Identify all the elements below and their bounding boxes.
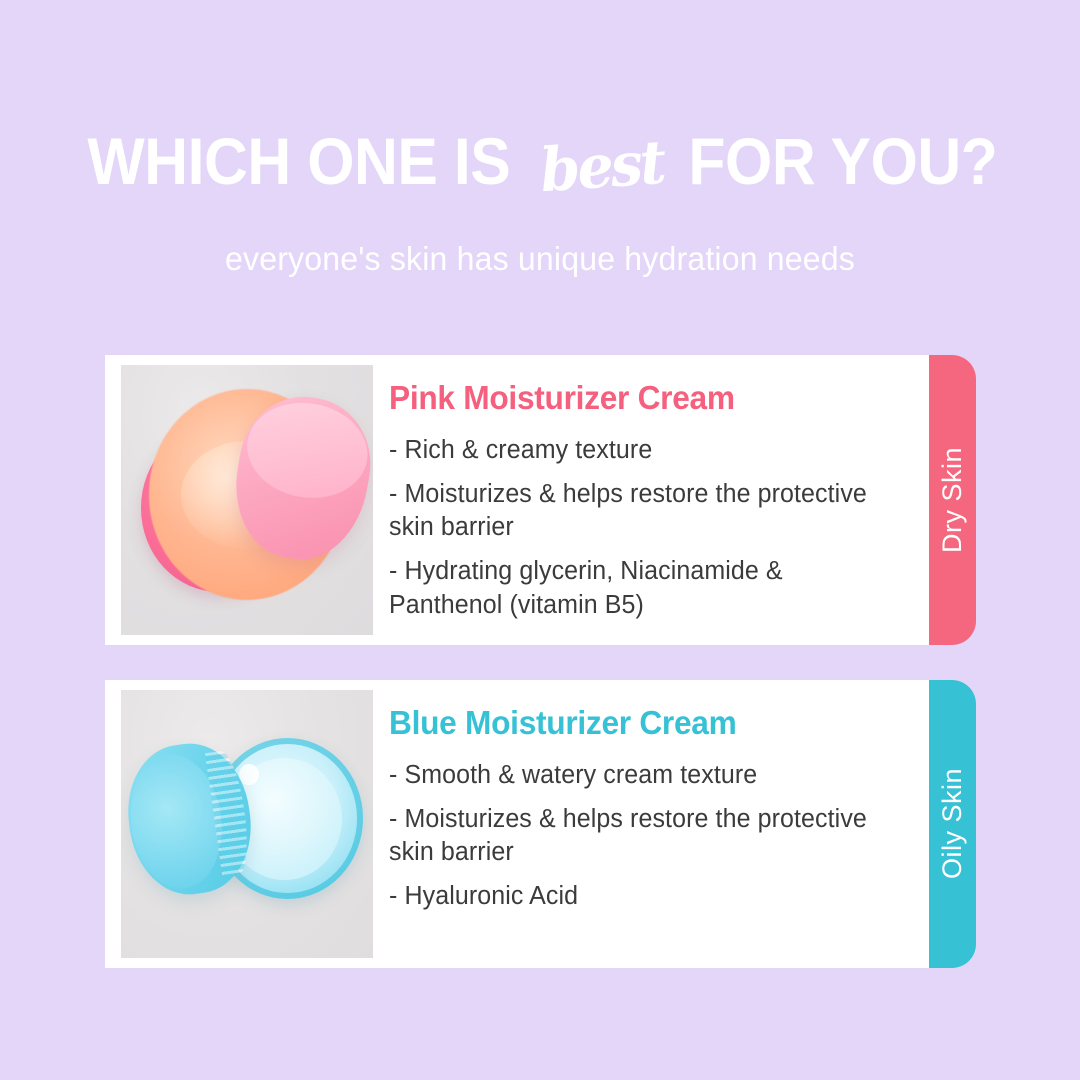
product-photo-blue (105, 680, 373, 968)
skin-type-tab-oily[interactable]: Oily Skin (929, 680, 976, 968)
page-title-part-before: WHICH ONE IS (88, 128, 511, 194)
page-title-script-word: best (538, 133, 665, 201)
blue-jar-image (121, 690, 373, 958)
page-title-part-after: FOR YOU? (688, 128, 997, 194)
product-photo-pink (105, 355, 373, 645)
product-info-blue: Blue Moisturizer Cream - Smooth & watery… (373, 680, 930, 925)
page-title: WHICH ONE ISbestFOR YOU? (0, 128, 1080, 214)
product-feature: - Hydrating glycerin, Niacinamide & Pant… (389, 555, 898, 621)
product-feature: - Smooth & watery cream texture (389, 759, 898, 792)
page-subtitle: everyone's skin has unique hydration nee… (16, 240, 1064, 278)
product-title-blue: Blue Moisturizer Cream (389, 704, 887, 742)
header: WHICH ONE ISbestFOR YOU? everyone's skin… (0, 0, 1080, 278)
skin-type-tab-oily-label: Oily Skin (937, 768, 968, 879)
product-card-pink[interactable]: Pink Moisturizer Cream - Rich & creamy t… (105, 355, 930, 645)
skin-type-tab-dry-label: Dry Skin (937, 447, 968, 553)
blue-jar-bubble (239, 764, 259, 785)
pink-jar-image (121, 365, 373, 635)
product-title-pink: Pink Moisturizer Cream (389, 379, 887, 417)
product-feature: - Moisturizes & helps restore the protec… (389, 803, 898, 869)
product-feature: - Moisturizes & helps restore the protec… (389, 478, 898, 544)
skin-type-tab-dry[interactable]: Dry Skin (929, 355, 976, 645)
product-feature: - Rich & creamy texture (389, 434, 898, 467)
product-feature: - Hyaluronic Acid (389, 880, 898, 913)
product-info-pink: Pink Moisturizer Cream - Rich & creamy t… (373, 355, 930, 633)
product-card-blue[interactable]: Blue Moisturizer Cream - Smooth & watery… (105, 680, 930, 968)
